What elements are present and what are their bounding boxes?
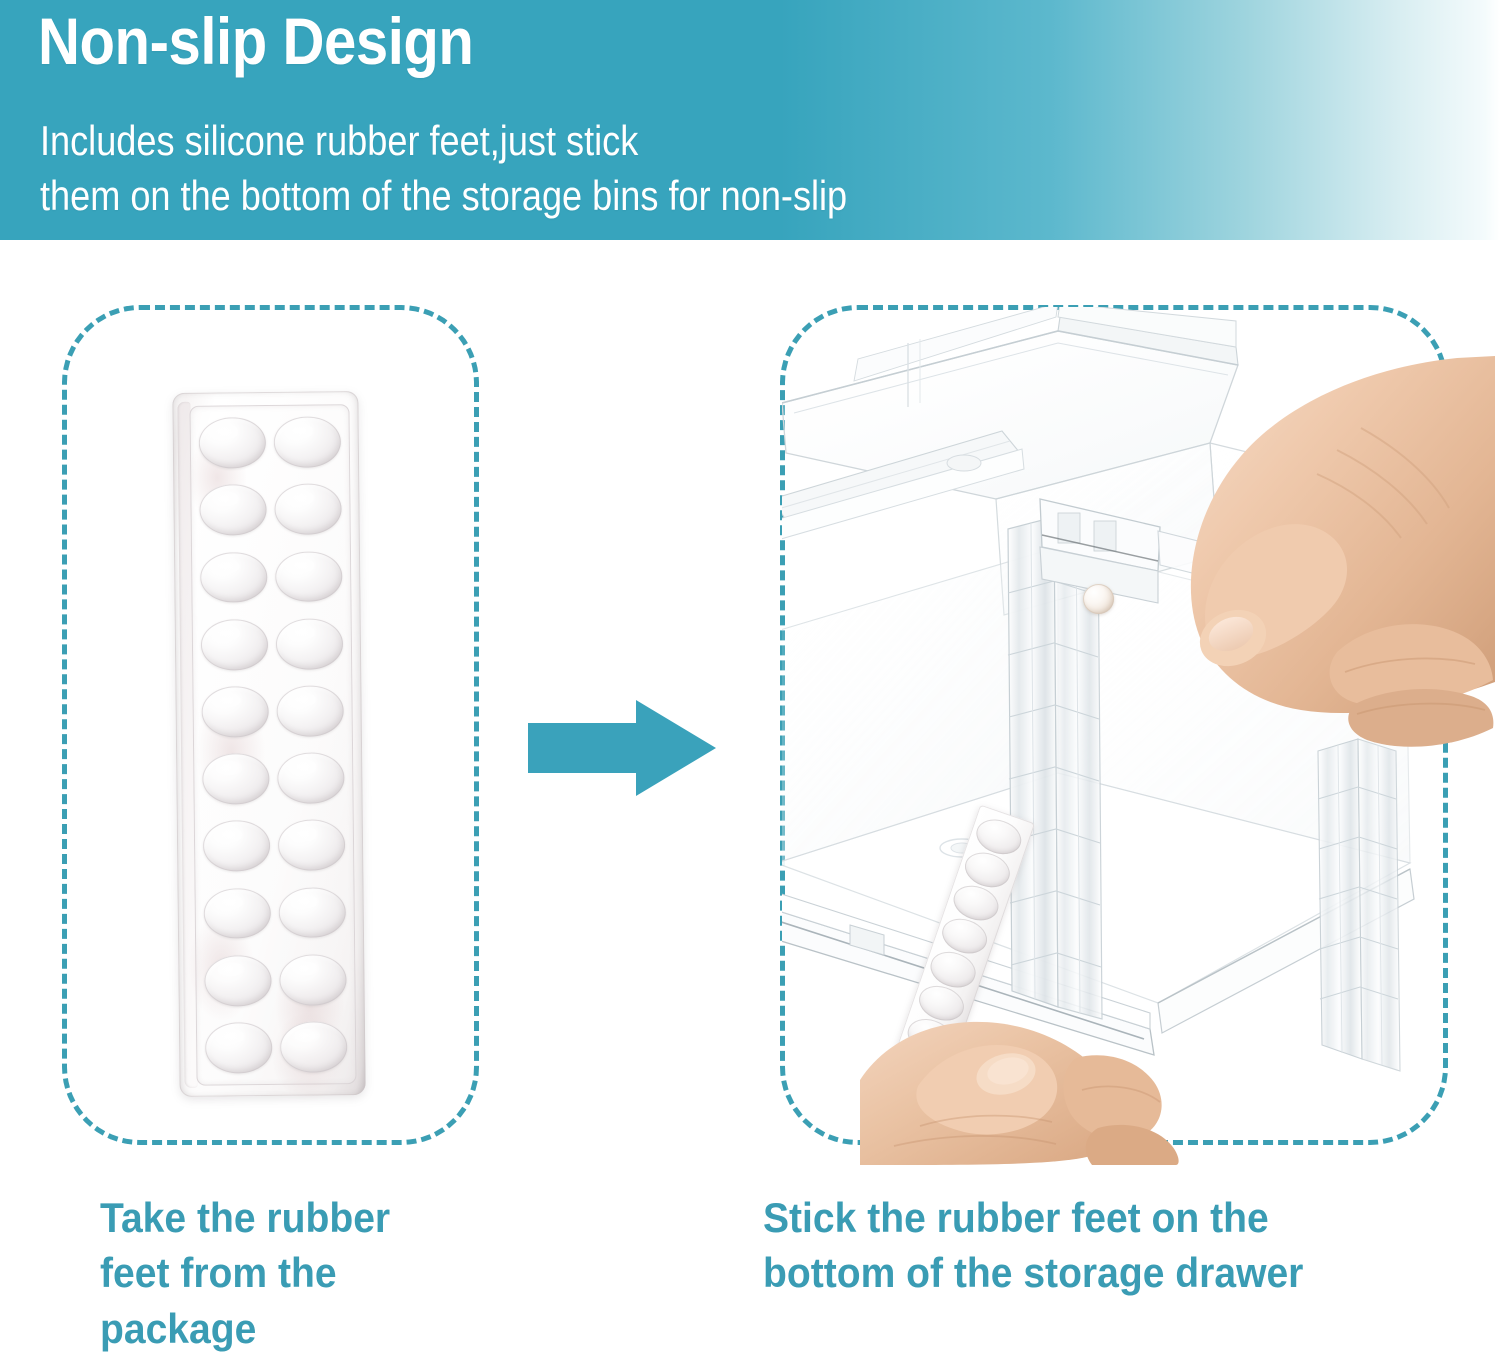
rubber-foot	[201, 948, 274, 1014]
right-caption-line-1: Stick the rubber feet on the	[763, 1190, 1303, 1245]
rubber-foot-dome	[277, 685, 344, 737]
rubber-foot	[273, 611, 346, 677]
rubber-foot-dome	[200, 552, 267, 604]
left-panel-caption: Take the rubber feet from the package	[100, 1190, 390, 1356]
rubber-foot	[198, 679, 271, 745]
rubber-foot-dome	[198, 417, 265, 469]
rubber-foot	[197, 544, 270, 610]
subtitle-line-2: them on the bottom of the storage bins f…	[40, 169, 847, 224]
rubber-foot-dome	[280, 954, 347, 1006]
page-subtitle: Includes silicone rubber feet,just stick…	[40, 114, 847, 223]
right-caption-line-2: bottom of the storage drawer	[763, 1245, 1303, 1300]
rubber-foot-dome	[278, 820, 345, 872]
rubber-foot-dome	[204, 955, 271, 1007]
rubber-foot	[274, 678, 347, 744]
drawer-top-bump	[947, 455, 981, 471]
rubber-foot-dome	[280, 1021, 347, 1073]
left-caption-line-1: Take the rubber	[100, 1190, 390, 1245]
rubber-foot	[275, 745, 348, 811]
rubber-foot-dome	[274, 416, 341, 468]
right-panel-caption: Stick the rubber feet on the bottom of t…	[763, 1190, 1303, 1301]
rubber-foot	[200, 880, 273, 946]
hand-placing-rubber-foot	[1105, 352, 1495, 772]
rubber-foot-dome	[202, 753, 269, 805]
rubber-foot-dome	[278, 752, 345, 804]
rubber-foot	[200, 813, 273, 879]
silicone-feet-blister-pack-image	[172, 391, 365, 1097]
applied-rubber-foot	[1083, 584, 1114, 614]
rubber-foot	[277, 947, 350, 1013]
left-caption-line-3: package	[100, 1301, 390, 1356]
rubber-feet-grid	[194, 408, 351, 1082]
rubber-foot-dome	[203, 888, 270, 940]
rubber-foot-dome	[275, 484, 342, 536]
rubber-foot	[196, 477, 269, 543]
drawer-corner-post-right	[1318, 739, 1400, 1071]
rubber-foot	[276, 880, 349, 946]
left-caption-line-2: feet from the	[100, 1245, 390, 1300]
hand-holding-rubber-feet-strip	[860, 930, 1190, 1165]
rubber-foot-dome	[276, 618, 343, 670]
rubber-foot-dome	[205, 1022, 272, 1074]
rubber-foot-dome	[279, 887, 346, 939]
rubber-foot	[275, 812, 348, 878]
flow-arrow-right-icon	[528, 700, 716, 796]
rubber-foot	[271, 409, 344, 475]
rubber-foot	[198, 612, 271, 678]
rubber-foot	[199, 746, 272, 812]
rubber-foot	[277, 1014, 350, 1080]
rubber-foot-dome	[203, 820, 270, 872]
rubber-foot	[272, 544, 345, 610]
rubber-foot-dome	[275, 551, 342, 603]
rubber-foot-dome	[199, 484, 266, 536]
rubber-foot	[202, 1015, 275, 1081]
header-banner: Non-slip Design Includes silicone rubber…	[0, 0, 1500, 240]
subtitle-line-1: Includes silicone rubber feet,just stick	[40, 114, 847, 169]
rubber-foot	[272, 476, 345, 542]
rubber-foot-dome	[201, 686, 268, 738]
page-title: Non-slip Design	[38, 8, 473, 75]
rubber-foot	[196, 410, 269, 476]
rubber-foot-dome	[201, 619, 268, 671]
